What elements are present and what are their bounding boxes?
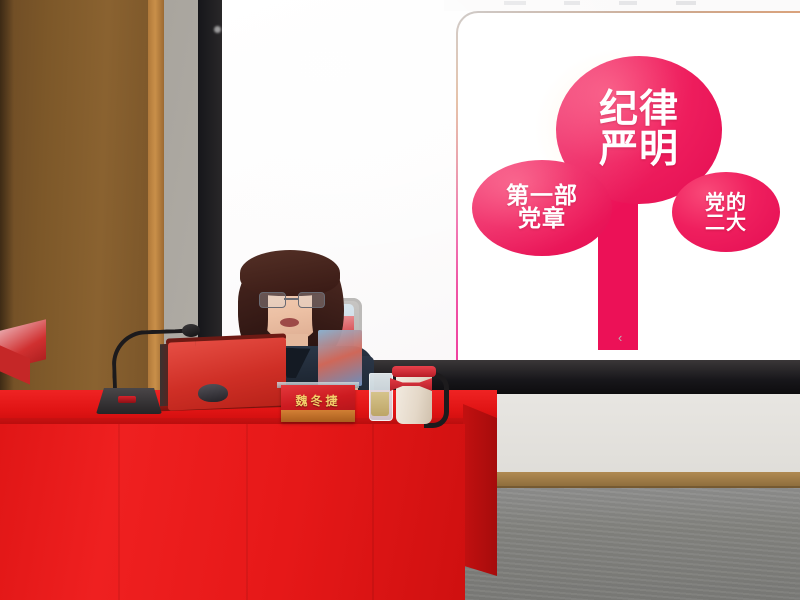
microphone-talk-button[interactable] <box>118 396 136 403</box>
desk-side-panel <box>463 404 497 576</box>
bubble-main-line1: 纪律 <box>599 90 679 130</box>
nameplate-text: 魏冬捷 <box>281 392 355 409</box>
nameplate-gold-band <box>281 410 355 422</box>
tablet-device <box>318 330 362 386</box>
thermos-flask <box>396 372 432 424</box>
bubble-right: 党的 二大 <box>672 172 780 252</box>
desk-red-cloth <box>0 424 465 600</box>
bubble-left-line1: 第一部 <box>506 185 578 208</box>
bubble-main-line2: 严明 <box>599 130 679 170</box>
glasses-bridge <box>284 298 298 300</box>
bubble-left-line2: 党章 <box>506 208 578 231</box>
tea-liquid <box>371 392 389 416</box>
microphone-gooseneck <box>111 329 197 396</box>
thermos-lid <box>392 366 436 377</box>
computer-mouse[interactable] <box>198 384 228 402</box>
tree-infographic: 纪律 严明 第一部 党章 党的 二大 <box>472 20 762 350</box>
bubble-left: 第一部 党章 <box>472 160 612 256</box>
presentation-photo: 纪律 严明 第一部 党章 党的 二大 19 治纪律、 “本党 <box>0 0 800 600</box>
microphone-capsule-icon <box>182 324 200 337</box>
mouth <box>280 318 299 327</box>
lens-right <box>298 292 325 308</box>
slide-top-cutoff <box>444 0 800 11</box>
lens-left <box>259 292 286 308</box>
slide-prev-arrow-icon[interactable]: ‹ <box>618 330 622 345</box>
bubble-right-line2: 二大 <box>705 212 747 232</box>
eyeglasses-icon <box>258 292 324 307</box>
ceiling-light-reflection-icon <box>214 26 221 33</box>
hair-fringe <box>240 250 340 296</box>
bubble-right-line1: 党的 <box>705 192 747 212</box>
